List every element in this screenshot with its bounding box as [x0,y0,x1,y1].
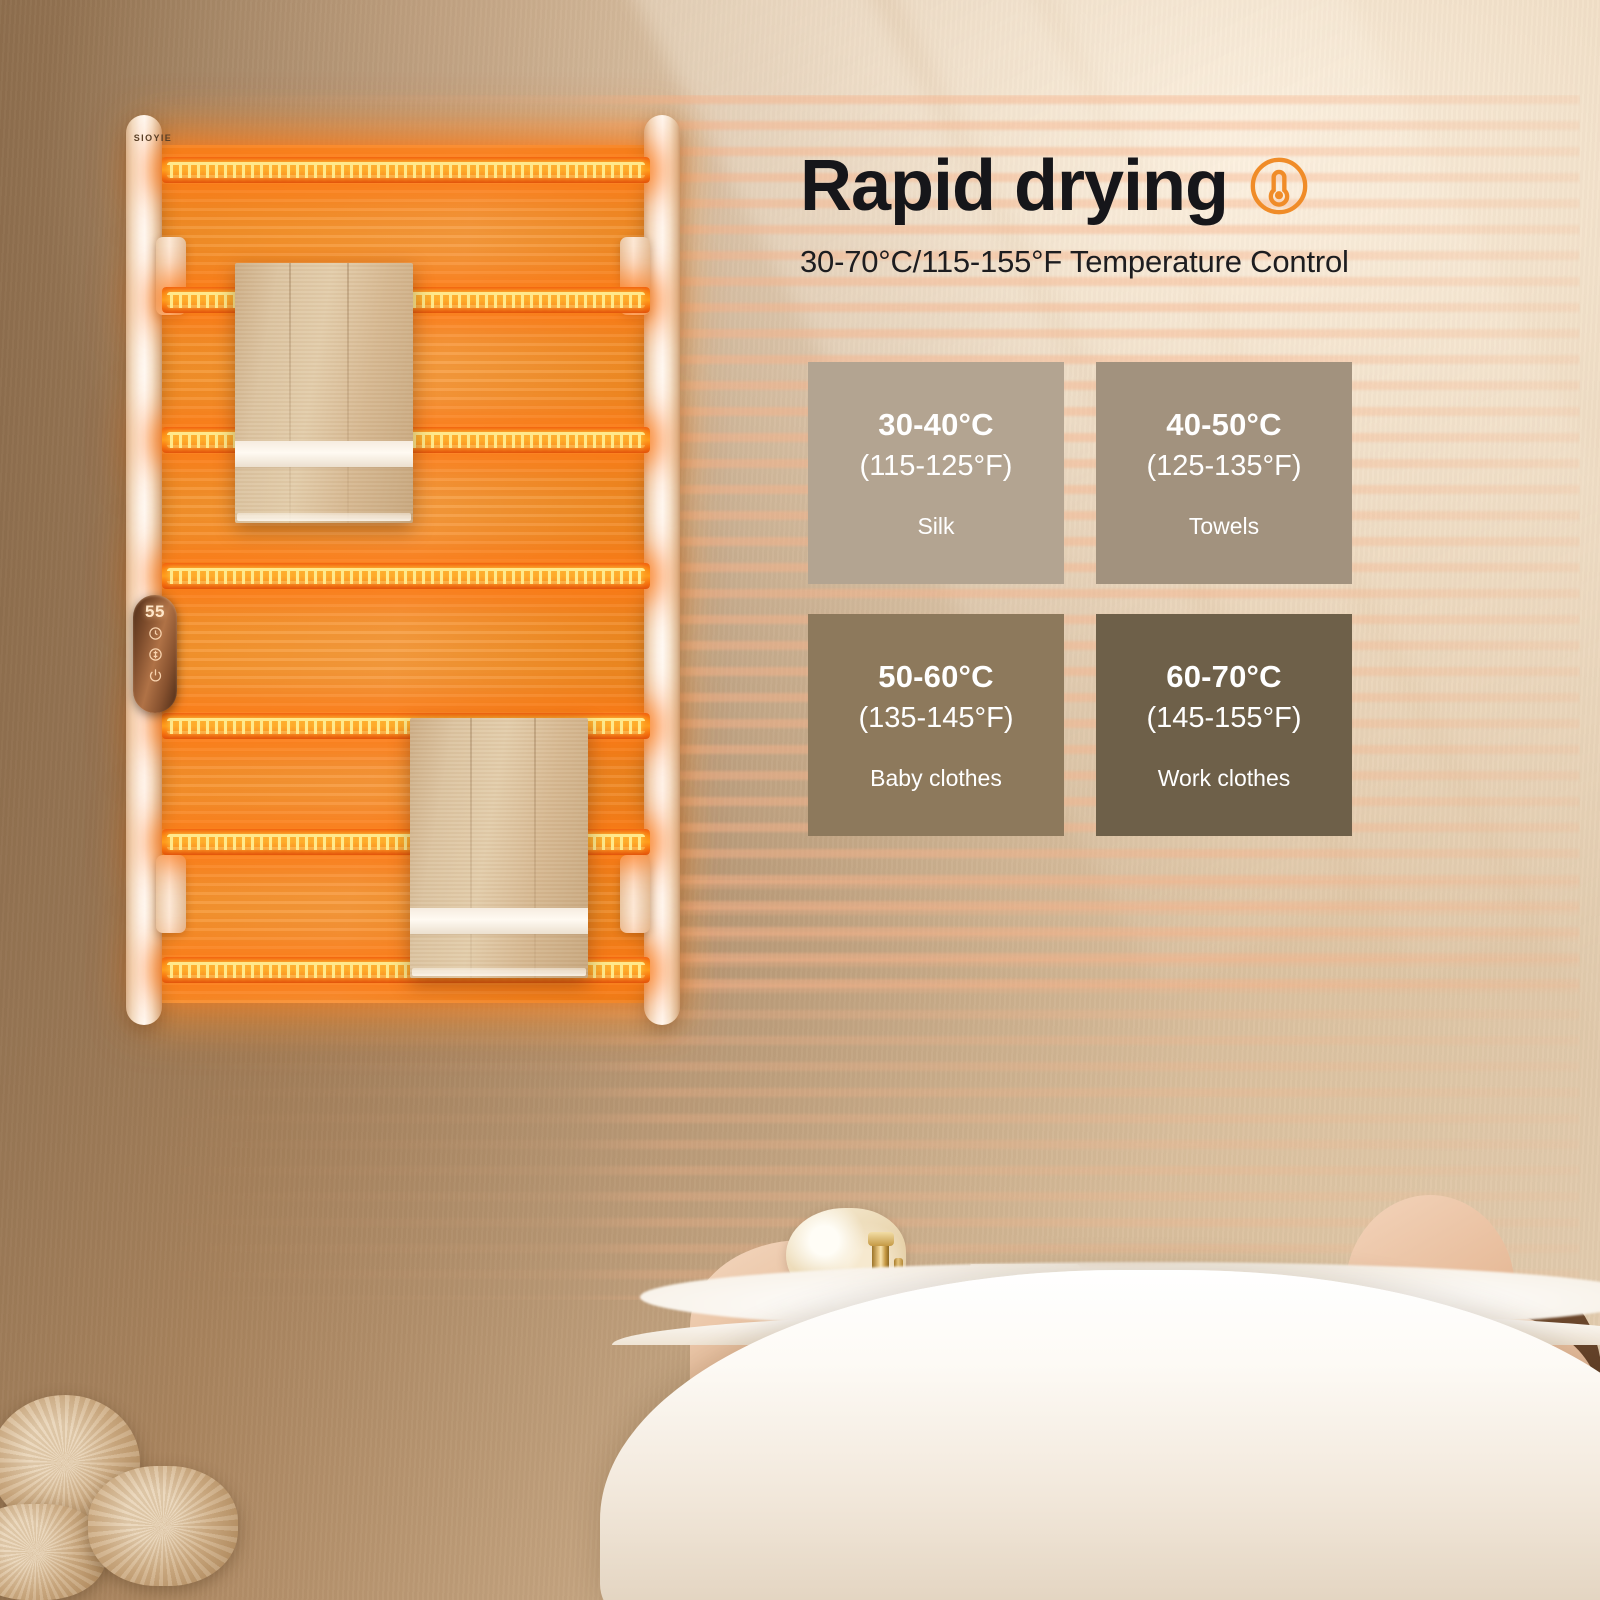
fahrenheit-range: (115-125°F) [860,450,1013,483]
timer-icon[interactable] [148,626,163,641]
celsius-range: 40-50°C [1166,407,1281,443]
fahrenheit-range: (145-155°F) [1146,702,1301,735]
towel-hem [412,968,586,976]
control-panel[interactable]: 55 [133,595,177,713]
temperature-card[interactable]: 30-40°C (115-125°F) Silk [808,362,1064,584]
heated-towel-rack[interactable]: SIOYIE 55 [120,115,700,1025]
fahrenheit-range: (135-145°F) [858,702,1013,735]
title-row: Rapid drying [800,150,1560,222]
bathtub-scene [0,1180,1600,1600]
celsius-range: 30-40°C [878,407,993,443]
towel-fold [534,718,536,978]
rolled-towel [88,1466,238,1586]
temperature-card-grid: 30-40°C (115-125°F) Silk 40-50°C (125-13… [808,362,1352,836]
towel-hem [237,513,411,521]
towel-band [235,441,413,467]
towel-fold [289,263,291,523]
fabric-label: Work clothes [1158,765,1291,792]
temperature-icon[interactable] [148,647,163,662]
temperature-card[interactable]: 40-50°C (125-135°F) Towels [1096,362,1352,584]
heating-coil [167,162,645,178]
fahrenheit-range: (125-135°F) [1146,450,1301,483]
hanging-towel-lower [410,718,588,978]
temperature-card[interactable]: 50-60°C (135-145°F) Baby clothes [808,614,1064,836]
hanging-towel-upper [235,263,413,523]
headline-block: Rapid drying 30-70°C/115-155°F Temperatu… [800,150,1560,280]
temperature-readout: 55 [145,603,165,620]
towel-fold [347,263,349,523]
brand-logo: SIOYIE [129,133,177,143]
mounting-bracket [620,855,650,933]
thermometer-icon [1248,155,1310,217]
page-subtitle: 30-70°C/115-155°F Temperature Control [800,244,1560,280]
heating-bar [162,563,650,589]
towel-fold [470,718,472,978]
fabric-label: Silk [917,513,954,540]
page-title: Rapid drying [800,150,1228,222]
fabric-label: Towels [1189,513,1259,540]
power-icon[interactable] [148,668,163,683]
faucet-spout [868,1232,894,1246]
celsius-range: 60-70°C [1166,659,1281,695]
product-scene: SIOYIE 55 [0,0,1600,1600]
fabric-label: Baby clothes [870,765,1002,792]
mounting-bracket [156,855,186,933]
towel-band [410,908,588,934]
rolled-towel-stack [0,1390,240,1600]
temperature-card[interactable]: 60-70°C (145-155°F) Work clothes [1096,614,1352,836]
celsius-range: 50-60°C [878,659,993,695]
heating-bar [162,157,650,183]
heating-coil [167,568,645,584]
